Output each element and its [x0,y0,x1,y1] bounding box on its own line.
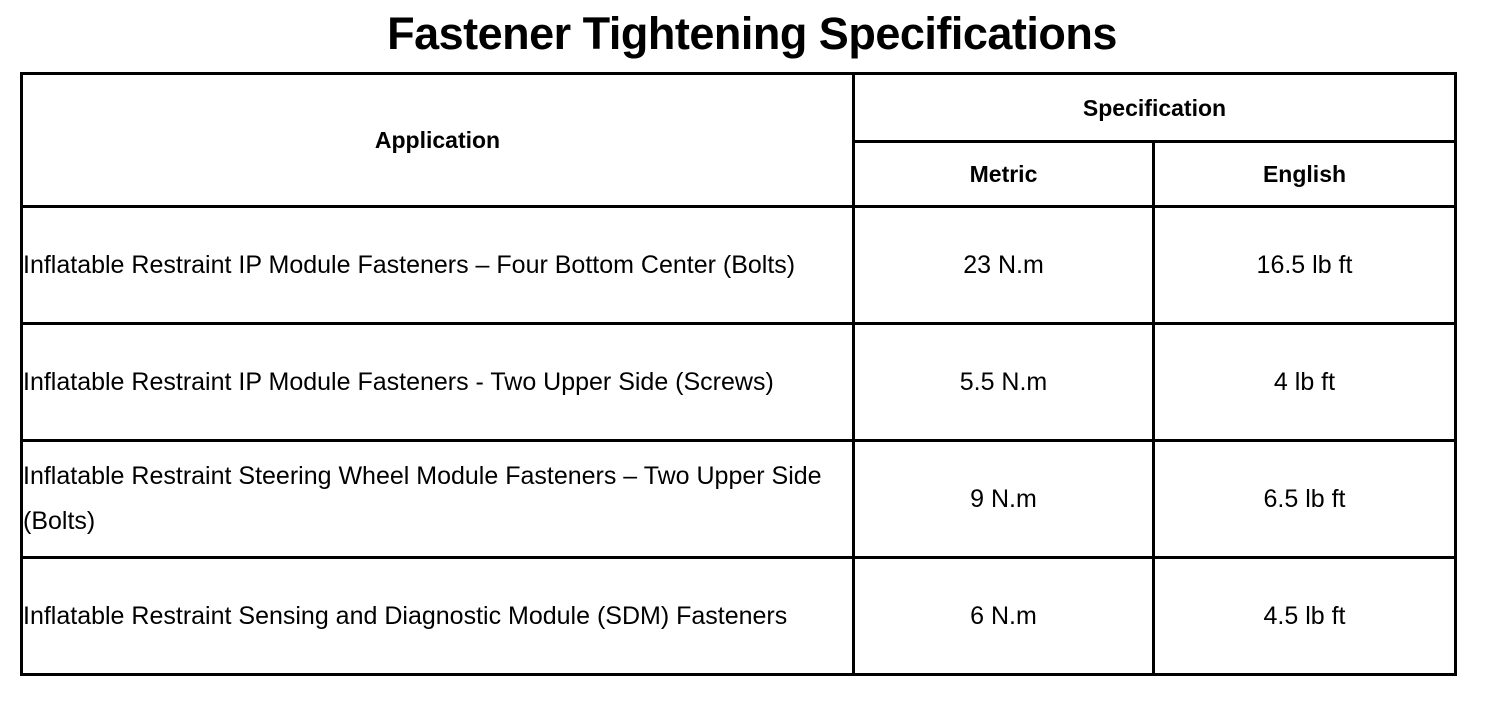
table-header: Application Specification Metric English [22,74,1456,207]
fastener-specifications-table: Application Specification Metric English… [20,72,1457,676]
table-row: Inflatable Restraint Sensing and Diagnos… [22,558,1456,675]
cell-application: Inflatable Restraint Sensing and Diagnos… [22,558,854,675]
table-header-row-top: Application Specification [22,74,1456,142]
cell-english-value: 4.5 lb ft [1154,558,1456,675]
column-header-specification: Specification [854,74,1456,142]
table-row: Inflatable Restraint IP Module Fasteners… [22,207,1456,324]
cell-english-value: 4 lb ft [1154,324,1456,441]
table-row: Inflatable Restraint IP Module Fasteners… [22,324,1456,441]
column-header-metric: Metric [854,142,1154,207]
cell-english-value: 6.5 lb ft [1154,441,1456,558]
cell-application: Inflatable Restraint IP Module Fasteners… [22,324,854,441]
column-header-english: English [1154,142,1456,207]
document-page: Fastener Tightening Specifications Appli… [0,0,1504,708]
cell-metric-value: 6 N.m [854,558,1154,675]
cell-english-value: 16.5 lb ft [1154,207,1456,324]
table-body: Inflatable Restraint IP Module Fasteners… [22,207,1456,675]
table-row: Inflatable Restraint Steering Wheel Modu… [22,441,1456,558]
column-header-application: Application [22,74,854,207]
cell-metric-value: 5.5 N.m [854,324,1154,441]
cell-application: Inflatable Restraint IP Module Fasteners… [22,207,854,324]
page-title: Fastener Tightening Specifications [0,6,1504,62]
cell-application: Inflatable Restraint Steering Wheel Modu… [22,441,854,558]
cell-metric-value: 23 N.m [854,207,1154,324]
cell-metric-value: 9 N.m [854,441,1154,558]
